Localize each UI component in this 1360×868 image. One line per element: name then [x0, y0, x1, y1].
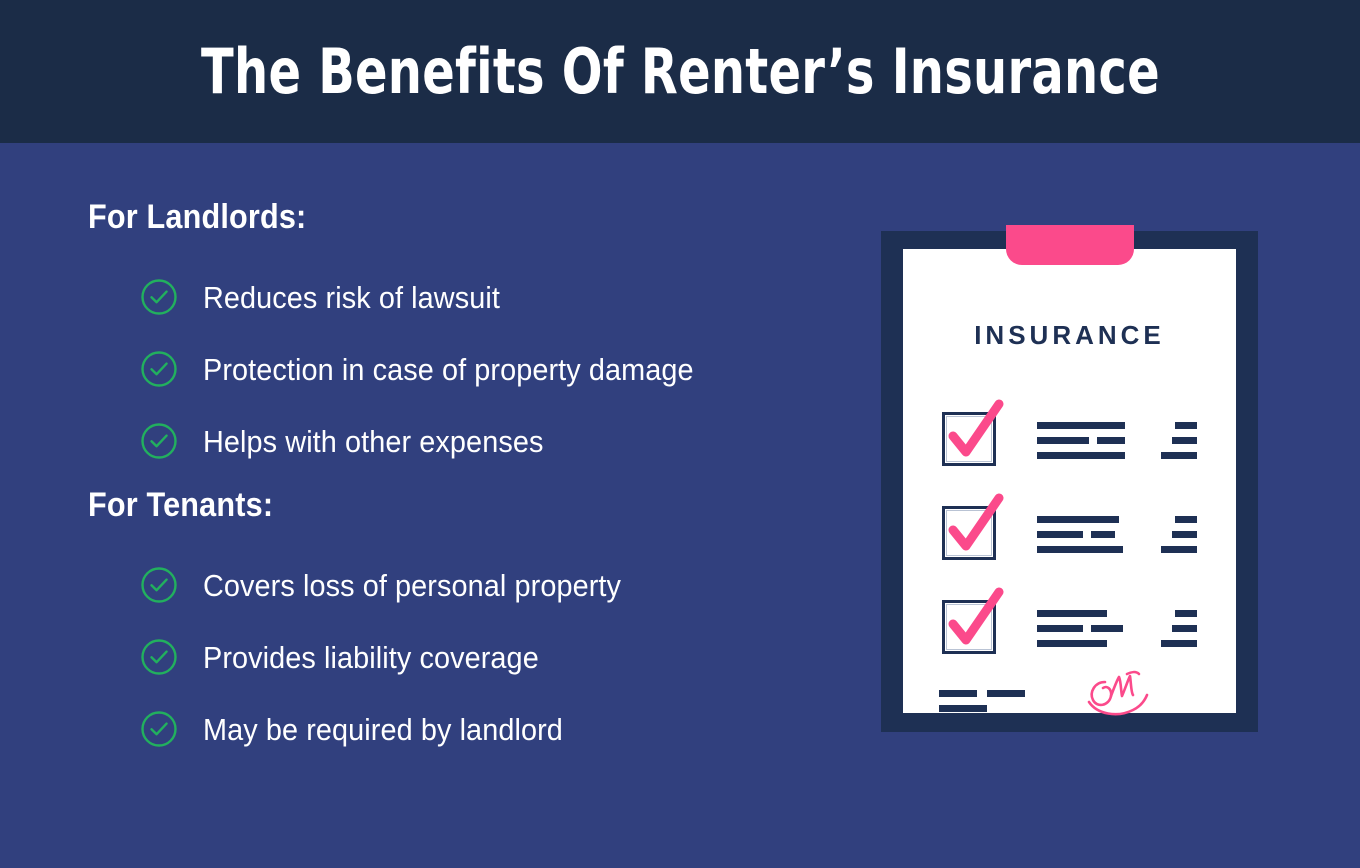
clipboard-paper: INSURANCE [903, 249, 1236, 713]
text-line [1172, 625, 1197, 632]
pink-checkmark-icon [939, 494, 1009, 564]
list-item: Provides liability coverage [140, 621, 652, 693]
text-line [939, 690, 977, 697]
text-line [1037, 610, 1107, 617]
text-line [1037, 422, 1125, 429]
text-line [1172, 437, 1197, 444]
text-line [987, 690, 1025, 697]
text-line [1175, 422, 1197, 429]
checked-checkbox [939, 494, 1009, 564]
benefit-label: May be required by landlord [203, 714, 563, 745]
page-title: The Benefits Of Renter’s Insurance [201, 41, 1160, 103]
document-row [939, 588, 1211, 682]
document-text-lines [1037, 422, 1125, 467]
infographic-root: The Benefits Of Renter’s Insurance For L… [0, 0, 1360, 868]
checked-checkbox [939, 588, 1009, 658]
document-side-lines [1161, 516, 1211, 561]
benefits-content: For Landlords: Reduces risk of lawsuit P… [0, 143, 860, 868]
text-line [1037, 516, 1119, 523]
text-line [1091, 531, 1115, 538]
pink-checkmark-icon [939, 400, 1009, 470]
clipboard-clip [1006, 225, 1134, 265]
benefit-label: Reduces risk of lawsuit [203, 282, 500, 313]
text-line [1091, 625, 1123, 632]
text-line [1037, 640, 1107, 647]
insurance-clipboard-illustration: INSURANCE [881, 231, 1258, 732]
document-checkbox-rows [939, 400, 1211, 682]
text-line-row [1037, 437, 1125, 444]
circle-check-icon [140, 638, 178, 676]
document-text-lines [1037, 516, 1125, 561]
text-line [1037, 625, 1083, 632]
text-line [1037, 531, 1083, 538]
list-item: Reduces risk of lawsuit [140, 261, 731, 333]
text-line [1161, 546, 1197, 553]
circle-check-icon [140, 422, 178, 460]
header-bar: The Benefits Of Renter’s Insurance [0, 0, 1360, 143]
text-line [1161, 452, 1197, 459]
benefit-label: Provides liability coverage [203, 642, 539, 673]
benefit-label: Protection in case of property damage [203, 354, 694, 385]
text-line [1172, 531, 1197, 538]
section-heading-landlords: For Landlords: [88, 200, 306, 234]
document-text-lines [1037, 610, 1125, 655]
text-line [1175, 516, 1197, 523]
benefit-list-tenants: Covers loss of personal property Provide… [140, 549, 652, 765]
circle-check-icon [140, 710, 178, 748]
list-item: May be required by landlord [140, 693, 652, 765]
benefit-label: Covers loss of personal property [203, 570, 621, 601]
benefit-label: Helps with other expenses [203, 426, 543, 457]
checked-checkbox [939, 400, 1009, 470]
circle-check-icon [140, 278, 178, 316]
text-line-row [939, 690, 1055, 697]
benefit-list-landlords: Reduces risk of lawsuit Protection in ca… [140, 261, 731, 477]
text-line [1037, 452, 1125, 459]
text-line-row [1037, 531, 1125, 538]
pink-checkmark-icon [939, 588, 1009, 658]
document-row [939, 400, 1211, 494]
list-item: Helps with other expenses [140, 405, 731, 477]
list-item: Protection in case of property damage [140, 333, 731, 405]
text-line [1037, 437, 1089, 444]
text-line [1175, 610, 1197, 617]
document-row [939, 494, 1211, 588]
handwritten-signature-icon [1081, 668, 1155, 724]
document-signature-area [939, 676, 1211, 736]
signature-lines [939, 690, 1055, 720]
document-title: INSURANCE [903, 322, 1236, 348]
list-item: Covers loss of personal property [140, 549, 652, 621]
circle-check-icon [140, 566, 178, 604]
circle-check-icon [140, 350, 178, 388]
document-side-lines [1161, 422, 1211, 467]
text-line [1037, 546, 1123, 553]
section-heading-tenants: For Tenants: [88, 488, 273, 522]
text-line [1097, 437, 1125, 444]
text-line [1161, 640, 1197, 647]
document-side-lines [1161, 610, 1211, 655]
text-line [939, 705, 987, 712]
text-line-row [1037, 625, 1125, 632]
